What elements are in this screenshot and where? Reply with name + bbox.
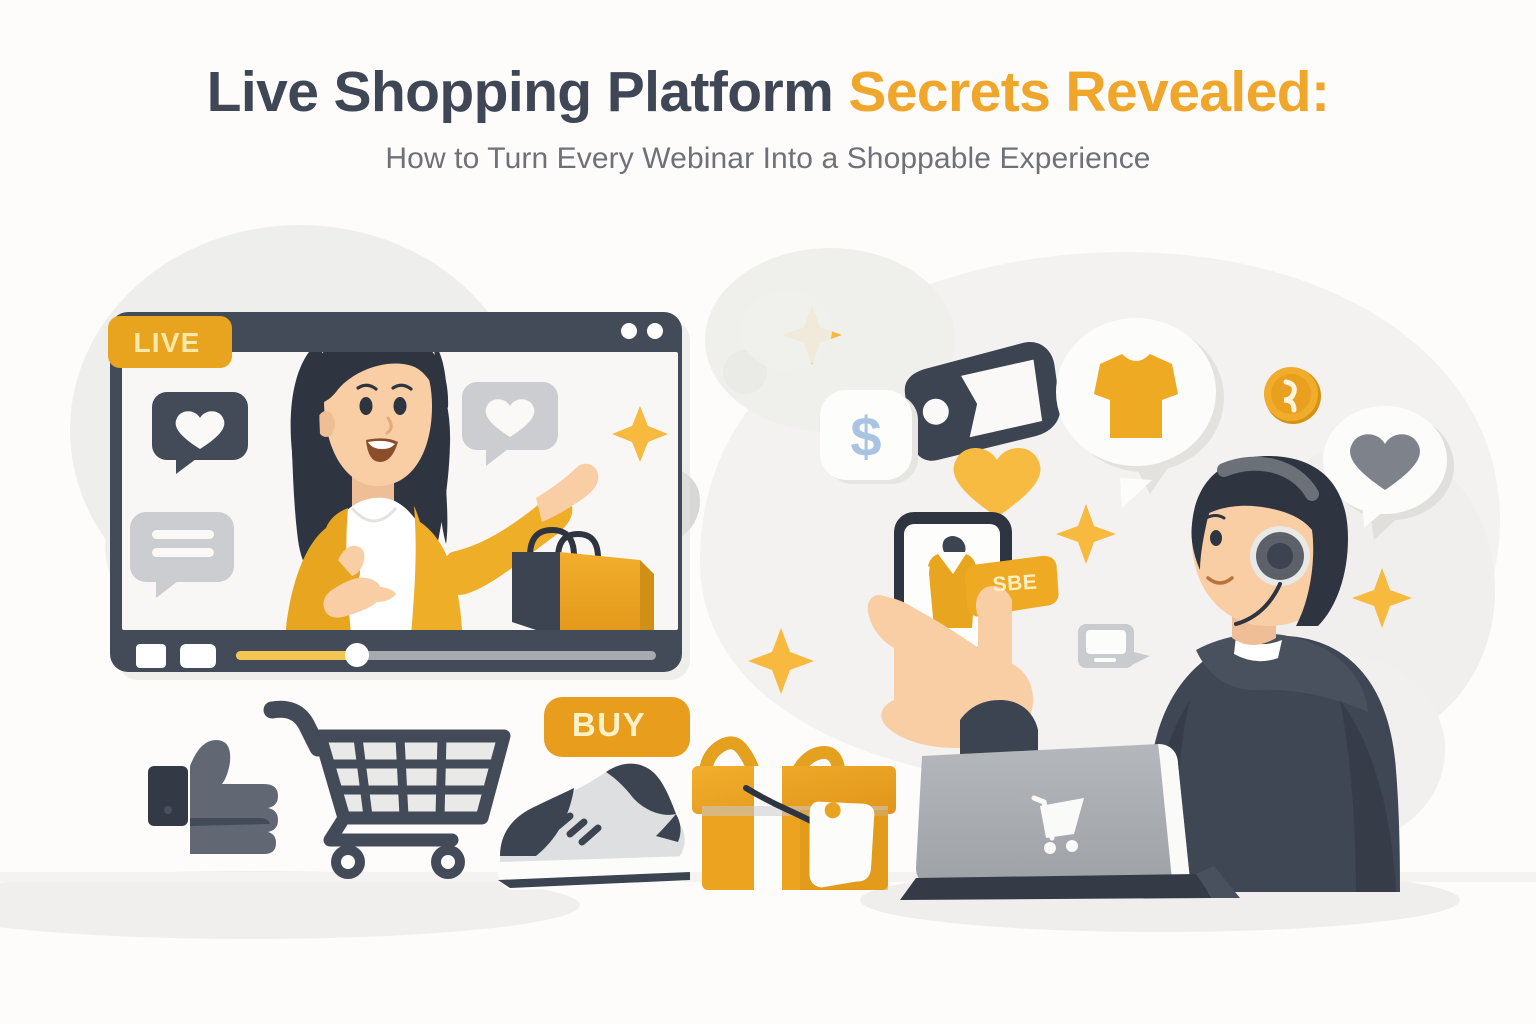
buy-button[interactable] xyxy=(544,697,690,757)
window-dot-2 xyxy=(647,323,663,339)
page-subtitle: How to Turn Every Webinar Into a Shoppab… xyxy=(0,142,1536,176)
title-accent: Secrets Revealed: xyxy=(848,60,1329,124)
page-title: Live Shopping Platform Secrets Revealed: xyxy=(0,62,1536,124)
header-block: Live Shopping Platform Secrets Revealed:… xyxy=(0,62,1536,176)
illustration-canvas: $ xyxy=(0,0,1536,1024)
live-badge xyxy=(108,316,232,368)
dollar-bubble-icon: $ xyxy=(820,390,918,484)
stop-button[interactable] xyxy=(136,644,166,668)
progress-handle[interactable] xyxy=(345,643,369,667)
svg-text:$: $ xyxy=(850,405,881,468)
heart-bubble-gray-left xyxy=(740,290,832,370)
live-video-player[interactable] xyxy=(108,312,690,680)
progress-fill xyxy=(236,651,354,660)
title-primary: Live Shopping Platform xyxy=(207,60,834,124)
window-dot-1 xyxy=(621,323,637,339)
pause-button[interactable] xyxy=(180,644,216,668)
